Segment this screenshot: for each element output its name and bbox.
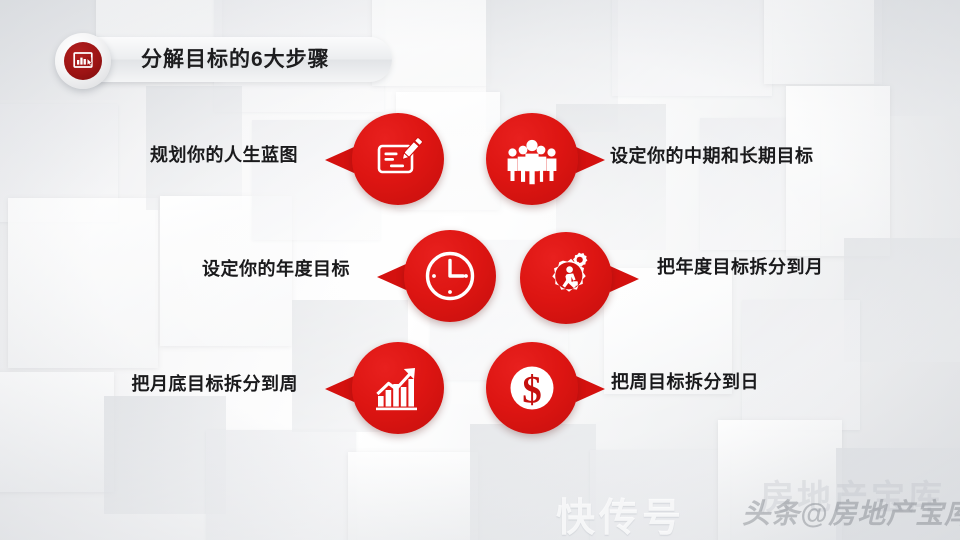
presentation-chart-icon: [64, 42, 102, 80]
bubble-tail: [576, 376, 605, 402]
bar-chart-growth-icon: [352, 342, 444, 434]
gear-person-icon: [520, 232, 612, 324]
people-group-icon: [486, 113, 578, 205]
step-bubble-5[interactable]: [352, 342, 444, 434]
document-pen-icon: [352, 113, 444, 205]
step-label-6: 把周目标拆分到日: [611, 373, 759, 391]
step-bubble-4[interactable]: [520, 232, 612, 324]
bubble-tail: [576, 147, 605, 173]
bg-block: [8, 198, 158, 368]
step-bubble-6[interactable]: $: [486, 342, 578, 434]
bg-block: [348, 452, 478, 540]
step-bubble-1[interactable]: [352, 113, 444, 205]
svg-text:$: $: [522, 369, 542, 412]
bg-block: [786, 86, 890, 256]
bubble-tail: [377, 264, 406, 290]
step-bubble-3[interactable]: [404, 230, 496, 322]
bg-block: [844, 238, 960, 362]
step-label-2: 设定你的中期和长期目标: [610, 147, 814, 165]
step-label-3: 设定你的年度目标: [0, 260, 372, 278]
bg-block: [764, 0, 882, 84]
bubble-tail: [610, 266, 639, 292]
bg-block: [372, 0, 490, 86]
slide-canvas: 分解目标的6大步骤 规划你的人生蓝图: [0, 0, 960, 540]
step-label-4: 把年度目标拆分到月: [657, 258, 824, 276]
step-label-5: 把月底目标拆分到周: [0, 375, 320, 393]
watermark-primary: 快传号: [556, 487, 685, 540]
bg-block: [742, 300, 860, 430]
watermark-secondary: 头条@房地产宝库: [742, 492, 960, 532]
step-label-1: 规划你的人生蓝图: [0, 146, 320, 164]
bubble-tail: [325, 376, 354, 402]
bg-block: [206, 430, 356, 540]
bg-block: [612, 0, 772, 96]
clock-icon: [404, 230, 496, 322]
step-bubble-2[interactable]: [486, 113, 578, 205]
title-badge: [55, 33, 111, 89]
bubble-tail: [325, 147, 354, 173]
dollar-sign-icon: $: [486, 342, 578, 434]
page-title: 分解目标的6大步骤: [141, 38, 330, 82]
